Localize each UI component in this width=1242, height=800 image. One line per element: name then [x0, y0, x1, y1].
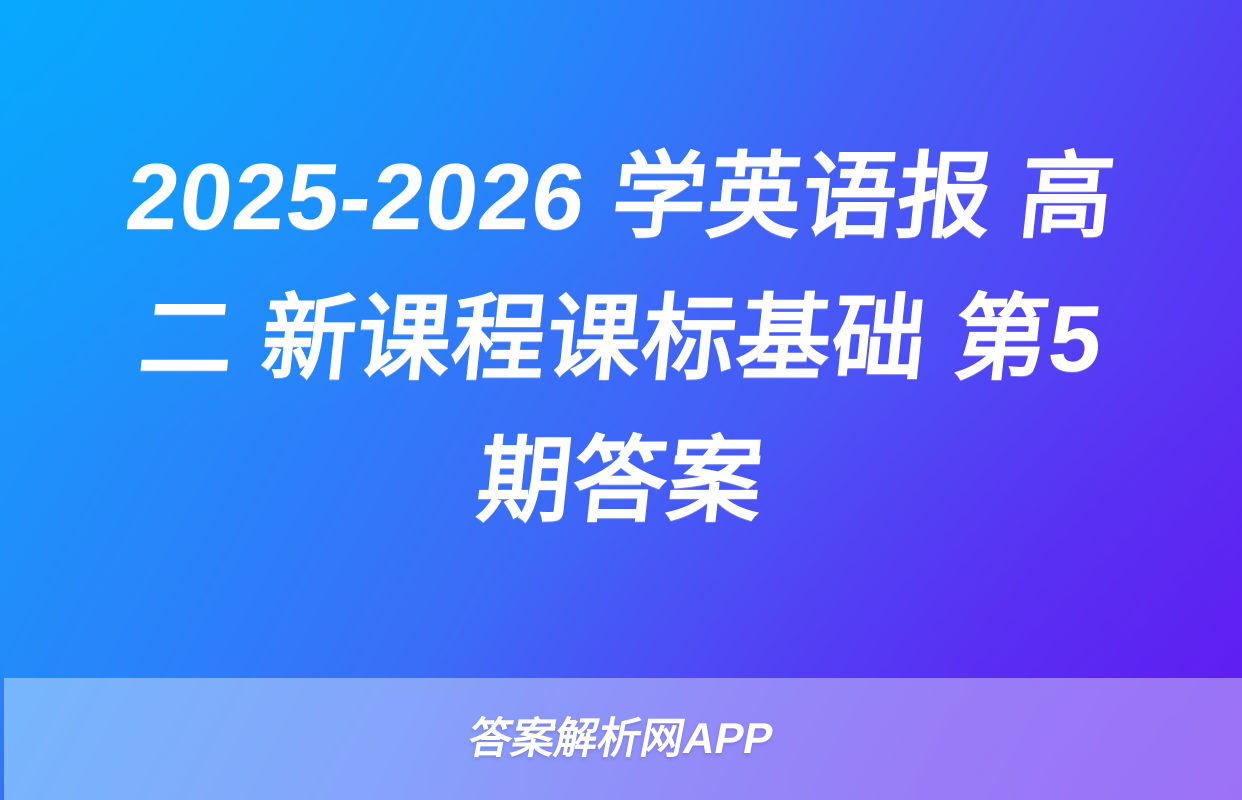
app-watermark-label: 答案解析网APP [465, 718, 777, 761]
page-title-line-2: 二 新课程课标基础 第5 [132, 268, 1109, 410]
page-title-line-3: 期答案 [471, 410, 771, 552]
answer-cover-card: 2025-2026 学英语报 高 二 新课程课标基础 第5 期答案 答案解析网A… [0, 0, 1242, 800]
footer-left-edge-accent [0, 678, 4, 800]
title-block: 2025-2026 学英语报 高 二 新课程课标基础 第5 期答案 [0, 0, 1242, 678]
footer-watermark-band: 答案解析网APP [0, 678, 1242, 800]
page-title-line-1: 2025-2026 学英语报 高 [120, 126, 1123, 268]
